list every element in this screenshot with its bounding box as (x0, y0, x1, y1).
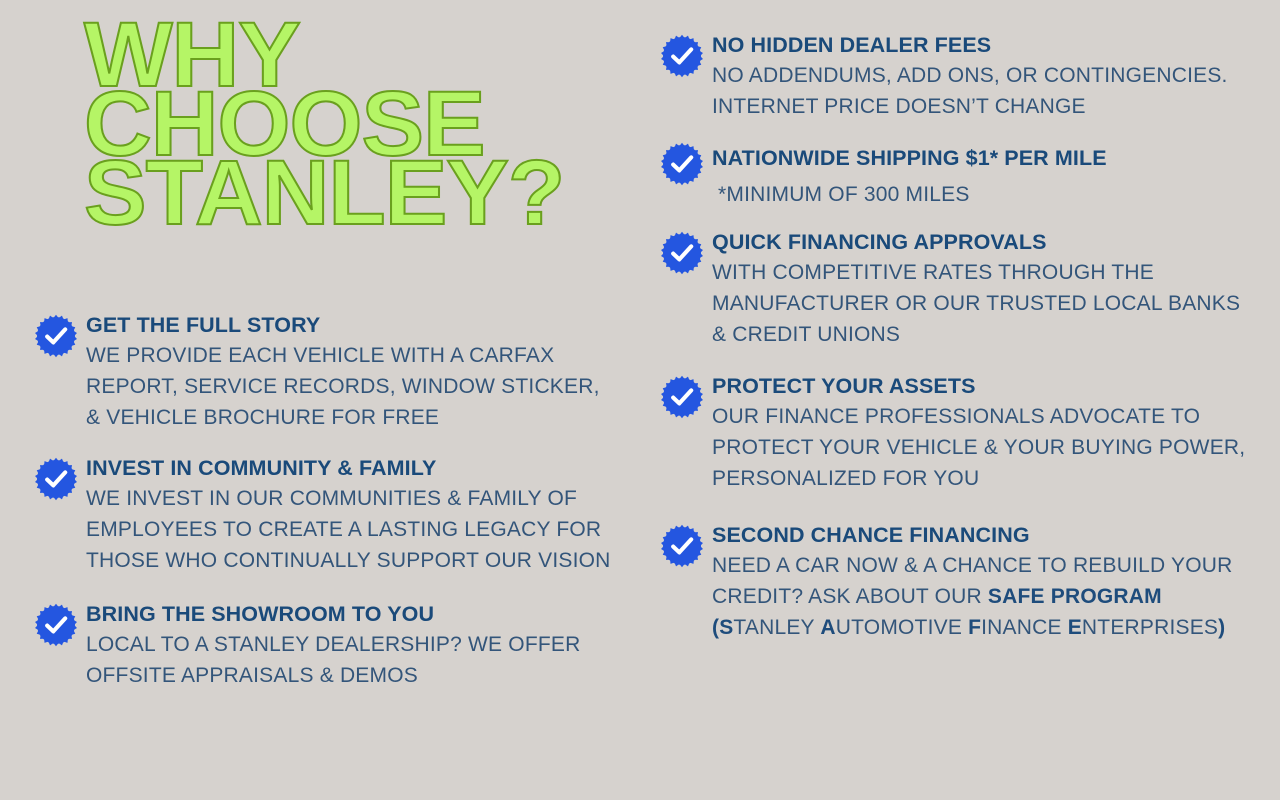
verified-check-badge-icon (34, 457, 78, 501)
verified-check-badge-icon (660, 34, 704, 78)
verified-check-badge-icon (660, 231, 704, 275)
verified-check-badge-icon (660, 142, 704, 186)
feature-title: QUICK FINANCING APPROVALS (712, 229, 1248, 255)
feature-item: INVEST IN COMMUNITY & FAMILY WE INVEST I… (34, 455, 614, 576)
feature-title: SECOND CHANCE FINANCING (712, 522, 1248, 548)
verified-check-badge-icon (34, 314, 78, 358)
verified-check-badge-icon (660, 524, 704, 568)
headline-line-3: STANLEY? (84, 160, 614, 229)
feature-item: BRING THE SHOWROOM TO YOU LOCAL TO A STA… (34, 601, 614, 691)
feature-body: NATIONWIDE SHIPPING $1* PER MILE *MINIMU… (712, 140, 1248, 210)
feature-body: PROTECT YOUR ASSETS OUR FINANCE PROFESSI… (712, 373, 1248, 494)
feature-description: NEED A CAR NOW & A CHANCE TO REBUILD YOU… (712, 550, 1248, 643)
feature-description: WITH COMPETITIVE RATES THROUGH THE MANUF… (712, 257, 1248, 350)
feature-title: GET THE FULL STORY (86, 312, 614, 338)
feature-body: INVEST IN COMMUNITY & FAMILY WE INVEST I… (86, 455, 614, 576)
features-column-right: NO HIDDEN DEALER FEES NO ADDENDUMS, ADD … (660, 32, 1248, 643)
feature-description: LOCAL TO A STANLEY DEALERSHIP? WE OFFER … (86, 629, 614, 691)
feature-item: SECOND CHANCE FINANCING NEED A CAR NOW &… (660, 522, 1248, 643)
feature-title: NO HIDDEN DEALER FEES (712, 32, 1248, 58)
page-headline: WHY CHOOSE STANLEY? (84, 22, 604, 229)
feature-body: SECOND CHANCE FINANCING NEED A CAR NOW &… (712, 522, 1248, 643)
feature-item: GET THE FULL STORY WE PROVIDE EACH VEHIC… (34, 312, 614, 433)
feature-description: OUR FINANCE PROFESSIONALS ADVOCATE TO PR… (712, 401, 1248, 494)
verified-check-badge-icon (660, 375, 704, 419)
feature-description: NO ADDENDUMS, ADD ONS, OR CONTINGENCIES.… (712, 60, 1248, 122)
feature-title: PROTECT YOUR ASSETS (712, 373, 1248, 399)
feature-title: INVEST IN COMMUNITY & FAMILY (86, 455, 614, 481)
feature-body: GET THE FULL STORY WE PROVIDE EACH VEHIC… (86, 312, 614, 433)
feature-title: BRING THE SHOWROOM TO YOU (86, 601, 614, 627)
feature-item: PROTECT YOUR ASSETS OUR FINANCE PROFESSI… (660, 373, 1248, 494)
feature-title: NATIONWIDE SHIPPING $1* PER MILE (712, 140, 1248, 177)
feature-item: QUICK FINANCING APPROVALS WITH COMPETITI… (660, 229, 1248, 350)
feature-item: NO HIDDEN DEALER FEES NO ADDENDUMS, ADD … (660, 32, 1248, 122)
feature-body: BRING THE SHOWROOM TO YOU LOCAL TO A STA… (86, 601, 614, 691)
feature-body: QUICK FINANCING APPROVALS WITH COMPETITI… (712, 229, 1248, 350)
feature-description: *MINIMUM OF 300 MILES (712, 179, 1248, 210)
verified-check-badge-icon (34, 603, 78, 647)
feature-description: WE INVEST IN OUR COMMUNITIES & FAMILY OF… (86, 483, 614, 576)
feature-item: NATIONWIDE SHIPPING $1* PER MILE *MINIMU… (660, 140, 1248, 210)
features-column-left: GET THE FULL STORY WE PROVIDE EACH VEHIC… (34, 312, 614, 691)
feature-body: NO HIDDEN DEALER FEES NO ADDENDUMS, ADD … (712, 32, 1248, 122)
feature-description: WE PROVIDE EACH VEHICLE WITH A CARFAX RE… (86, 340, 614, 433)
